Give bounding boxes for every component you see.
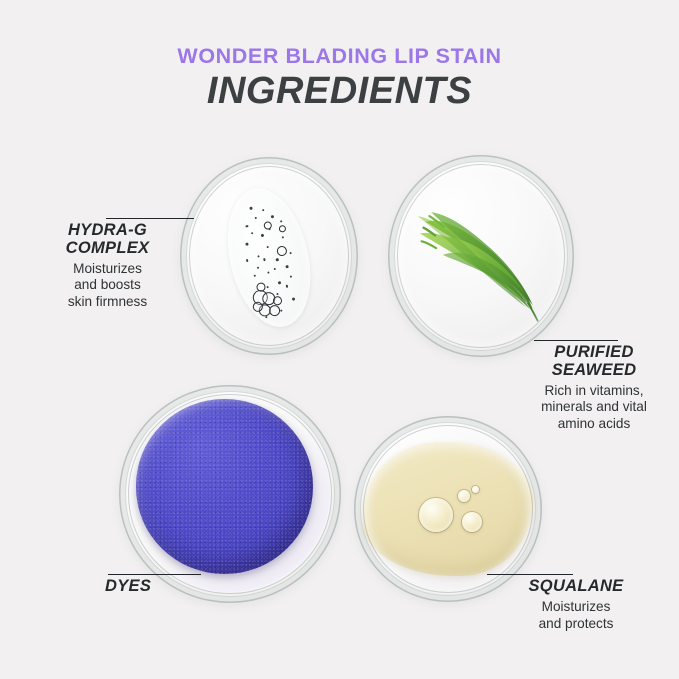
callout-dyes: DYES <box>105 578 215 596</box>
callout-purified-seaweed: PURIFIED SEAWEED Rich in vitamins, miner… <box>518 344 670 433</box>
oil-droplet-small <box>458 490 470 502</box>
oil-droplet-tiny <box>472 486 479 493</box>
seaweed-icon <box>410 187 555 332</box>
connector-line-squalane <box>487 574 573 575</box>
ingredients-infographic: WONDER BLADING LIP STAIN INGREDIENTS <box>0 0 679 679</box>
ingredient-description-hydra-g: Moisturizes and boosts skin firmness <box>30 261 185 312</box>
ingredient-name-dyes: DYES <box>105 578 215 596</box>
connector-line-hydra-g <box>106 218 194 219</box>
brand-title: WONDER BLADING LIP STAIN <box>0 44 679 69</box>
ingredient-name-hydra-g: HYDRA-G COMPLEX <box>30 222 185 258</box>
callout-hydra-g-complex: HYDRA-G COMPLEX Moisturizes and boosts s… <box>30 222 185 311</box>
seaweed-visual <box>410 187 555 332</box>
connector-line-seaweed <box>534 340 618 341</box>
ingredient-description-squalane: Moisturizes and protects <box>500 599 652 633</box>
petri-dish-dyes <box>119 385 341 603</box>
ingredient-name-squalane: SQUALANE <box>500 578 652 596</box>
petri-dish-purified-seaweed <box>388 155 574 357</box>
gel-blob-visual <box>215 180 323 335</box>
page-title: INGREDIENTS <box>0 70 679 113</box>
callout-squalane: SQUALANE Moisturizes and protects <box>500 578 652 633</box>
oil-droplet-large <box>419 498 453 532</box>
blue-powder-visual <box>136 399 314 573</box>
ingredient-name-seaweed: PURIFIED SEAWEED <box>518 344 670 380</box>
oil-blob-visual <box>363 442 532 576</box>
petri-dish-hydra-g-complex <box>180 157 358 355</box>
oil-droplet-medium <box>462 512 482 532</box>
connector-line-dyes <box>108 574 201 575</box>
ingredient-description-seaweed: Rich in vitamins, minerals and vital ami… <box>518 383 670 434</box>
